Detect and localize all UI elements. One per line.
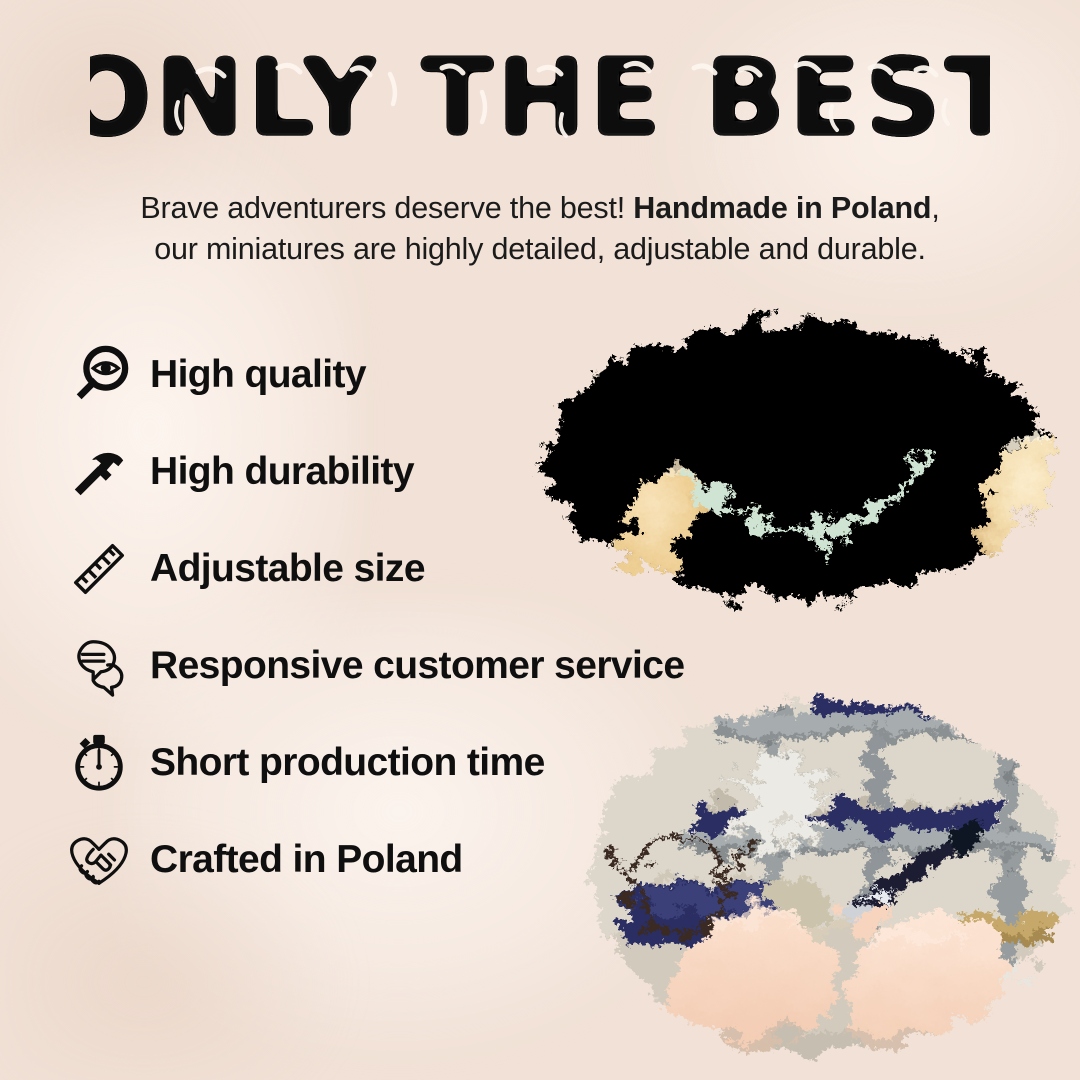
subtitle-highlight: Handmade in Poland [633, 191, 931, 225]
list-item-label: High quality [136, 353, 366, 397]
speech-bubbles-icon [62, 629, 136, 703]
promo-graphic: ONLY THE BEST [0, 0, 1080, 1080]
photo-flexible-miniature [516, 300, 1080, 630]
magnifier-eye-icon [62, 338, 136, 412]
handshake-heart-icon [62, 823, 136, 897]
list-item-label: Short production time [136, 741, 545, 785]
photo-workshop-hands [566, 680, 1080, 1080]
subtitle-line2: our miniatures are highly detailed, adju… [154, 232, 926, 266]
stopwatch-icon [62, 726, 136, 800]
subtitle-line1-tail: , [931, 191, 939, 225]
list-item-label: High durability [136, 450, 414, 494]
list-item-label: Crafted in Poland [136, 838, 463, 882]
page-title-text: ONLY THE BEST [90, 36, 990, 161]
subtitle: Brave adventurers deserve the best! Hand… [60, 188, 1020, 269]
subtitle-line1-lead: Brave adventurers deserve the best! [140, 191, 633, 225]
page-title: ONLY THE BEST [0, 34, 1080, 164]
list-item-label: Adjustable size [136, 547, 425, 591]
ruler-icon [62, 532, 136, 606]
hammer-icon [62, 435, 136, 509]
